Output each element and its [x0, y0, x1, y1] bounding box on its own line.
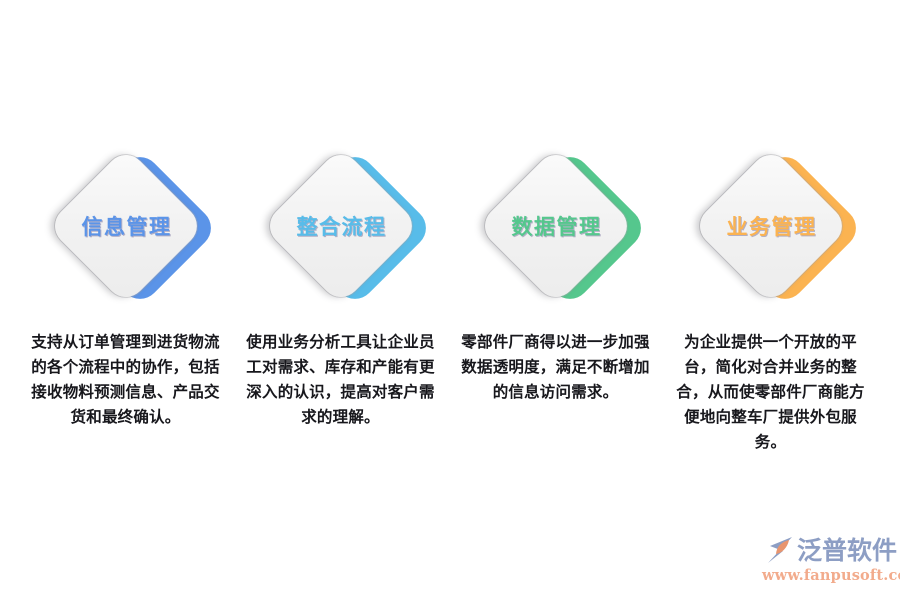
diamond-badge: 整合流程 — [261, 146, 421, 306]
brand-name: 泛普软件 — [797, 538, 897, 563]
brand-url: www.fanpusoft.com — [762, 567, 892, 584]
feature-description: 为企业提供一个开放的平台，简化对合并业务的整合，从而使零部件厂商能方便地向整车厂… — [676, 330, 866, 456]
fanpu-logo-icon — [762, 535, 794, 565]
feature-description: 支持从订单管理到进货物流的各个流程中的协作，包括接收物料预测信息、产品交货和最终… — [31, 330, 221, 430]
feature-description: 使用业务分析工具让企业员工对需求、库存和产能有更深入的认识，提高对客户需求的理解… — [246, 330, 436, 430]
diamond-badge-label: 数据管理 — [476, 146, 636, 306]
diamond-badge: 信息管理 — [46, 146, 206, 306]
diamond-badge-label: 信息管理 — [46, 146, 206, 306]
brand-logo-row: 泛普软件 — [762, 534, 892, 566]
feature-description: 零部件厂商得以进一步加强数据透明度，满足不断增加的信息访问需求。 — [461, 330, 651, 405]
brand-watermark: 泛普软件 www.fanpusoft.com — [762, 534, 892, 586]
diamond-badge-label: 整合流程 — [261, 146, 421, 306]
infographic-canvas: 信息管理 支持从订单管理到进货物流的各个流程中的协作，包括接收物料预测信息、产品… — [0, 0, 900, 600]
feature-card: 信息管理 支持从订单管理到进货物流的各个流程中的协作，包括接收物料预测信息、产品… — [18, 0, 233, 600]
feature-card: 业务管理 为企业提供一个开放的平台，简化对合并业务的整合，从而使零部件厂商能方便… — [663, 0, 878, 600]
diamond-badge: 业务管理 — [691, 146, 851, 306]
diamond-badge-label: 业务管理 — [691, 146, 851, 306]
feature-card: 数据管理 零部件厂商得以进一步加强数据透明度，满足不断增加的信息访问需求。 — [448, 0, 663, 600]
feature-card: 整合流程 使用业务分析工具让企业员工对需求、库存和产能有更深入的认识，提高对客户… — [233, 0, 448, 600]
diamond-badge: 数据管理 — [476, 146, 636, 306]
feature-cards-row: 信息管理 支持从订单管理到进货物流的各个流程中的协作，包括接收物料预测信息、产品… — [0, 0, 900, 600]
